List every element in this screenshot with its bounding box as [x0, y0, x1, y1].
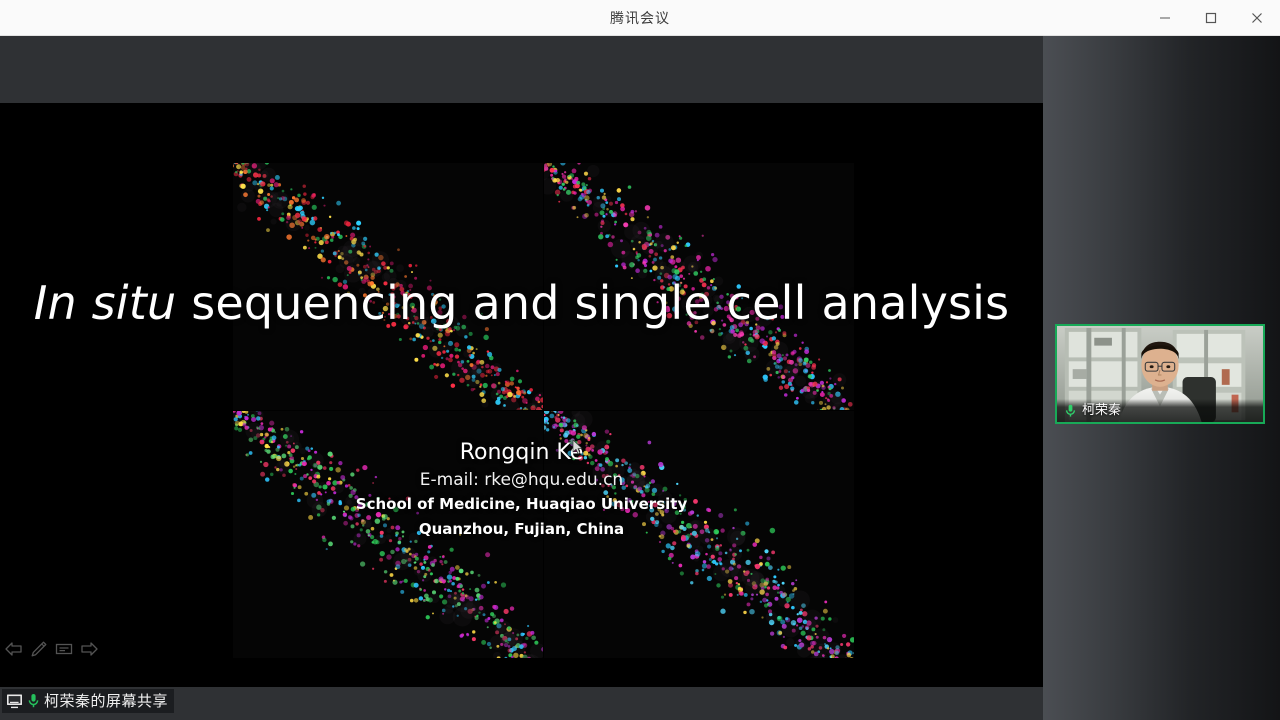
slide-title-italic: In situ — [34, 276, 177, 330]
slide-author-name: Rongqin Ke — [0, 438, 1043, 468]
window-title: 腾讯会议 — [610, 8, 670, 28]
arrow-right-icon — [80, 642, 98, 656]
tencent-meeting-window: 腾讯会议 — [0, 0, 1280, 720]
microphone-on-icon — [1065, 404, 1076, 418]
slide-menu-button[interactable] — [54, 639, 74, 659]
slide-city: Quanzhou, Fujian, China — [0, 518, 1043, 540]
monitor-icon — [6, 693, 23, 709]
participant-mic-status[interactable] — [1065, 404, 1076, 418]
previous-slide-button[interactable] — [4, 639, 24, 659]
slide-title-rest: sequencing and single cell analysis — [176, 276, 1009, 330]
slide-title: In situ sequencing and single cell analy… — [0, 278, 1043, 328]
slide-image-grid — [233, 163, 853, 658]
participant-panel: 柯荣秦 — [1043, 36, 1280, 720]
close-icon — [1251, 12, 1263, 24]
participant-video-tile[interactable]: 柯荣秦 — [1055, 324, 1265, 424]
close-button[interactable] — [1234, 0, 1280, 36]
participant-name: 柯荣秦 — [1082, 403, 1121, 419]
slide-author-email: E-mail: rke@hqu.edu.cn — [0, 468, 1043, 492]
maximize-button[interactable] — [1188, 0, 1234, 36]
maximize-icon — [1205, 12, 1217, 24]
powerpoint-slide[interactable]: In situ sequencing and single cell analy… — [0, 103, 1043, 687]
menu-icon — [55, 642, 73, 656]
window-controls — [1142, 0, 1280, 36]
participant-name-bar: 柯荣秦 — [1057, 399, 1263, 422]
window-titlebar: 腾讯会议 — [0, 0, 1280, 36]
minimize-button[interactable] — [1142, 0, 1188, 36]
pen-icon — [30, 640, 48, 658]
pen-tool-button[interactable] — [29, 639, 49, 659]
minimize-icon — [1159, 12, 1171, 24]
screen-share-label: 柯荣秦的屏幕共享 — [2, 689, 174, 713]
arrow-left-icon — [5, 642, 23, 656]
next-slide-button[interactable] — [79, 639, 99, 659]
screen-share-label-text: 柯荣秦的屏幕共享 — [44, 689, 168, 713]
microphone-icon — [27, 693, 40, 709]
presenter-toolbar — [4, 639, 99, 659]
shared-screen-region[interactable]: In situ sequencing and single cell analy… — [0, 36, 1043, 720]
slide-affiliation: School of Medicine, Huaqiao University — [0, 493, 1043, 515]
